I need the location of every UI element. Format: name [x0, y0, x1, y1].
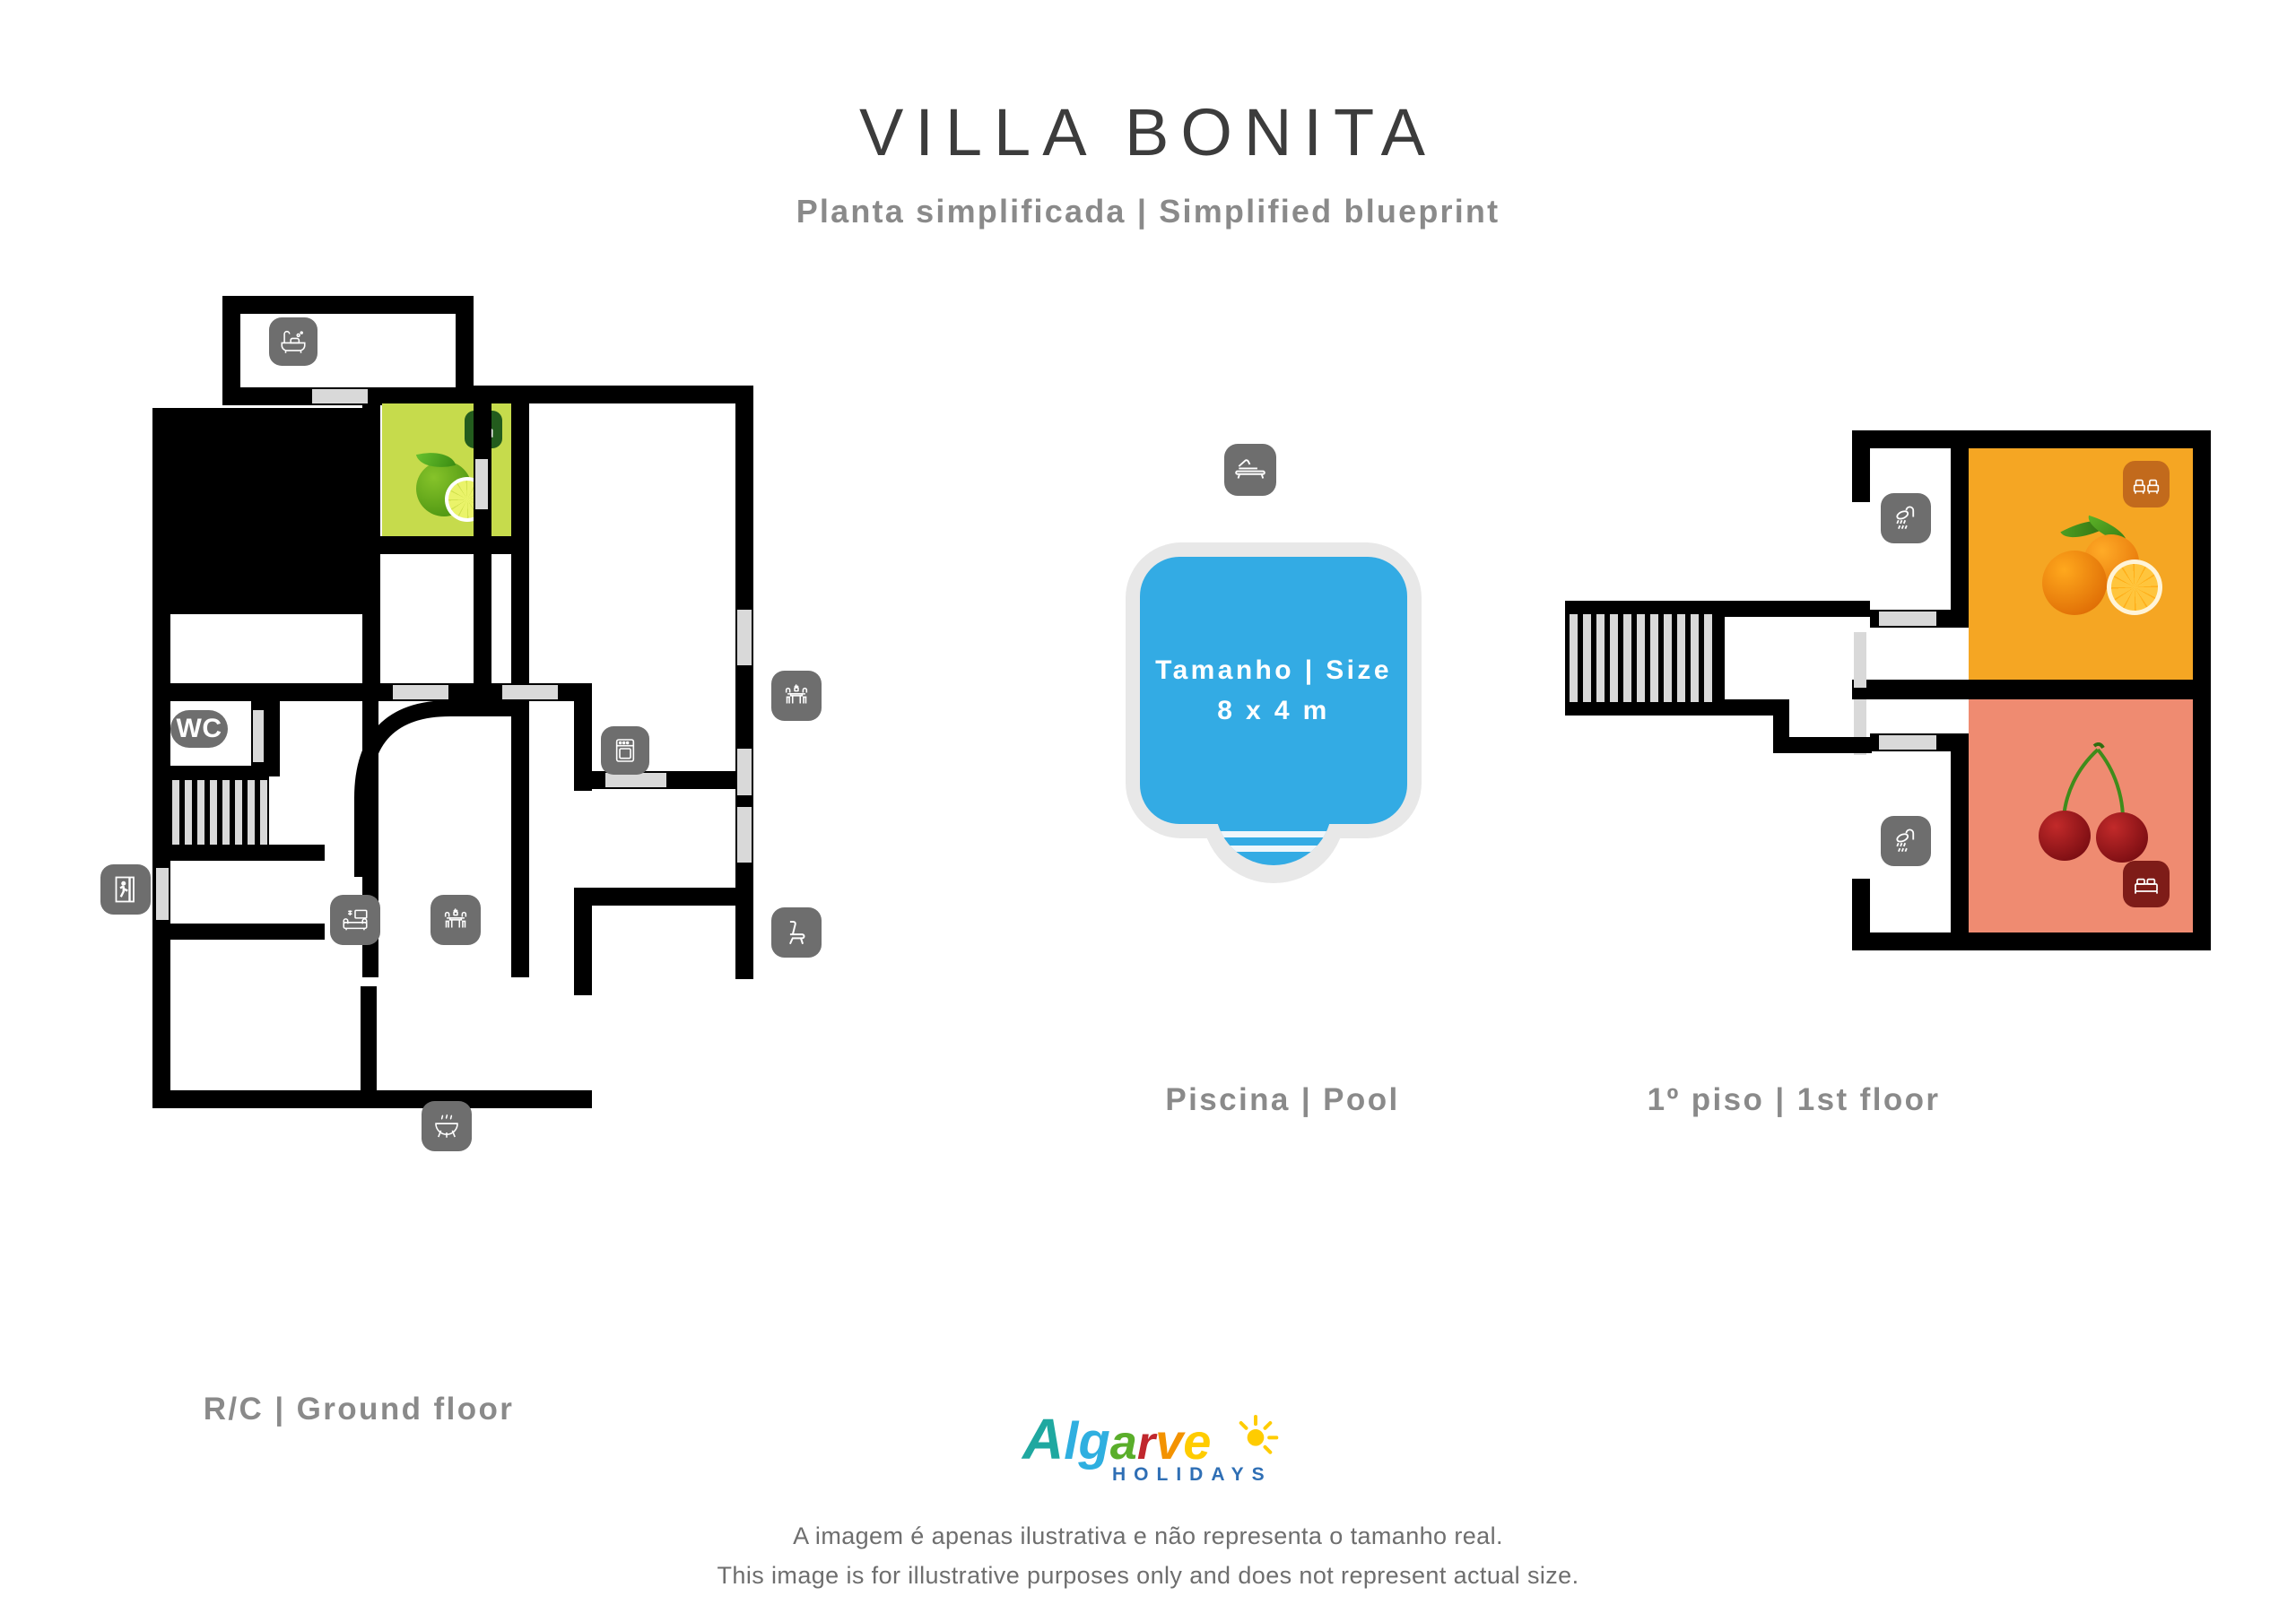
shower-icon	[1881, 816, 1931, 866]
brand-letter: a	[1110, 1420, 1137, 1466]
wall	[511, 386, 529, 977]
brand-letter: A	[1022, 1412, 1064, 1467]
window-opening	[737, 749, 752, 795]
dining-table-icon	[430, 895, 481, 945]
orange-bedroom	[1969, 448, 2193, 680]
wall	[1773, 737, 1872, 753]
oven-icon	[601, 726, 649, 775]
wall	[167, 924, 325, 940]
wall	[368, 536, 529, 554]
staircase	[1565, 614, 1725, 702]
door-opening	[1879, 612, 1936, 626]
brand-letter: v	[1155, 1418, 1183, 1465]
wall	[361, 986, 377, 1103]
orange-fruit	[2042, 551, 2107, 615]
window-opening	[737, 610, 752, 665]
wall	[222, 296, 474, 314]
door-opening	[312, 389, 368, 403]
brand-letter: l	[1064, 1417, 1078, 1466]
wall	[1852, 430, 2211, 448]
brand-letter: r	[1137, 1422, 1155, 1466]
window-opening	[475, 459, 488, 509]
first-floor-plan	[1565, 430, 2211, 1058]
patio-table-icon	[771, 671, 822, 721]
curved-partition-wall	[361, 698, 531, 877]
sun-lounger-icon	[1224, 444, 1276, 496]
page-subtitle: Planta simplificada | Simplified bluepri…	[0, 193, 2296, 230]
entrance-door-opening	[156, 868, 169, 920]
wc-label-badge: WC	[170, 710, 228, 748]
window-opening	[737, 807, 752, 863]
ground-floor-caption: R/C | Ground floor	[152, 1392, 565, 1427]
solid-block	[152, 408, 380, 614]
cherry-bedroom	[1969, 699, 2193, 932]
staircase	[167, 780, 269, 850]
pool-size-label: Tamanho | Size	[1155, 655, 1392, 685]
wall	[1951, 448, 1969, 628]
brand-tagline: HOLIDAYS	[1112, 1464, 1273, 1486]
pool-water: Tamanho | Size 8 x 4 m	[1140, 557, 1407, 824]
page-title: VILLA BONITA	[0, 94, 2296, 170]
blueprint-page: VILLA BONITA Planta simplificada | Simpl…	[0, 0, 2296, 1622]
twin-beds-icon	[2123, 461, 2170, 507]
wc-label: WC	[177, 714, 222, 744]
orange-slice-flesh	[2111, 564, 2158, 611]
bbq-grill-icon	[422, 1101, 472, 1151]
wall	[1951, 751, 1969, 950]
wall	[1852, 430, 1870, 502]
disclaimer-line-pt: A imagem é apenas ilustrativa e não repr…	[0, 1522, 2296, 1550]
wall	[1852, 932, 2211, 950]
wall	[474, 403, 491, 701]
brand-logo: Algarve HOLIDAYS	[1022, 1412, 1291, 1493]
sun-icon	[1231, 1410, 1281, 1461]
pool-size-value: 8 x 4 m	[1217, 696, 1330, 725]
wall	[152, 408, 170, 1107]
wall	[264, 699, 280, 776]
wall	[1852, 879, 1870, 950]
bathtub-icon	[269, 317, 317, 366]
wall	[152, 766, 269, 780]
brand-letter: g	[1078, 1417, 1109, 1466]
wall	[1852, 680, 2211, 699]
shower-icon	[1881, 493, 1931, 543]
wall	[574, 888, 753, 906]
brand-wordmark: Algarve	[1022, 1412, 1211, 1467]
sofa-tv-icon	[330, 895, 380, 945]
ground-floor-plan: WC	[152, 296, 870, 1417]
lime-bedroom	[382, 403, 511, 538]
disclaimer-line-en: This image is for illustrative purposes …	[0, 1562, 2296, 1590]
entrance-door-icon	[100, 864, 151, 915]
door-opening	[1854, 632, 1866, 688]
door-opening	[1879, 735, 1936, 750]
pool-caption: Piscina | Pool	[1058, 1082, 1507, 1118]
pool-plan: Tamanho | Size 8 x 4 m	[1126, 444, 1439, 1036]
lounge-chair-icon	[771, 907, 822, 958]
wall	[167, 845, 325, 861]
first-floor-caption: 1º piso | 1st floor	[1578, 1082, 2009, 1118]
door-opening	[605, 773, 666, 787]
wall	[574, 888, 592, 995]
cherry-fruit	[2096, 812, 2148, 863]
cherry-fruit	[2039, 811, 2091, 861]
double-bed-icon	[2123, 861, 2170, 907]
wall	[511, 386, 744, 403]
brand-letter: e	[1183, 1418, 1211, 1465]
